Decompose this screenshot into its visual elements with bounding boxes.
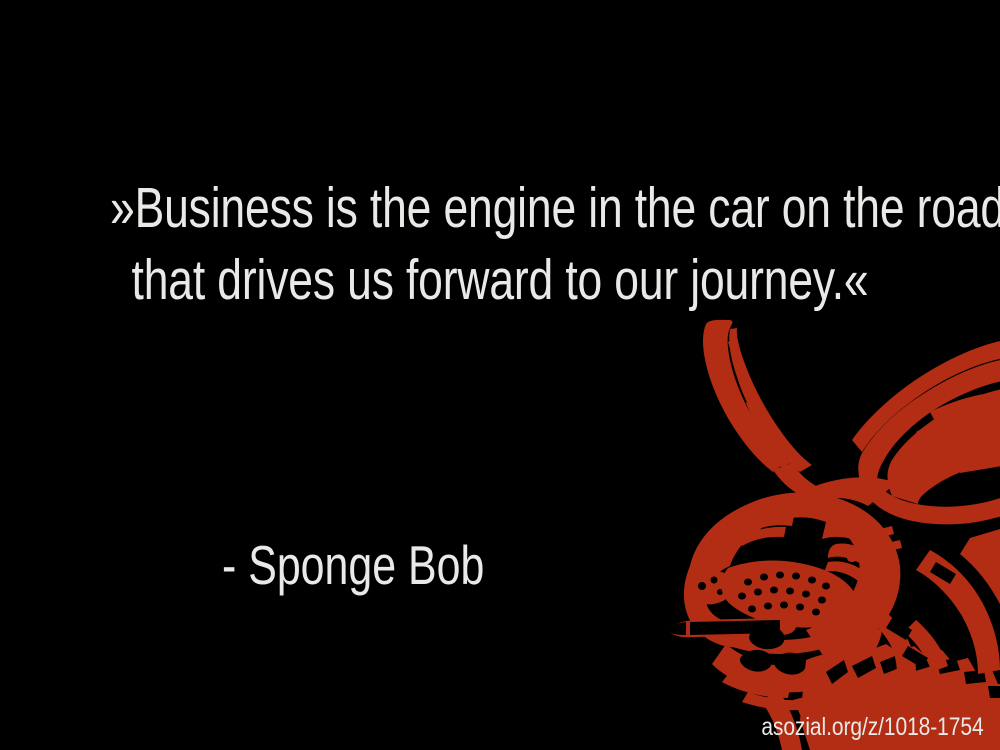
quote-line-1: »Business is the engine in the car on th… xyxy=(110,172,890,244)
quote-attribution: - Sponge Bob xyxy=(0,534,706,596)
kangaroo-illustration xyxy=(630,300,1000,750)
source-url[interactable]: asozial.org/z/1018-1754 xyxy=(762,712,984,742)
quote-line-2: that drives us forward to our journey.« xyxy=(110,244,890,316)
quote-text: »Business is the engine in the car on th… xyxy=(0,172,1000,316)
attribution-label: - Sponge Bob xyxy=(222,534,484,596)
quote-card: »Business is the engine in the car on th… xyxy=(0,0,1000,750)
